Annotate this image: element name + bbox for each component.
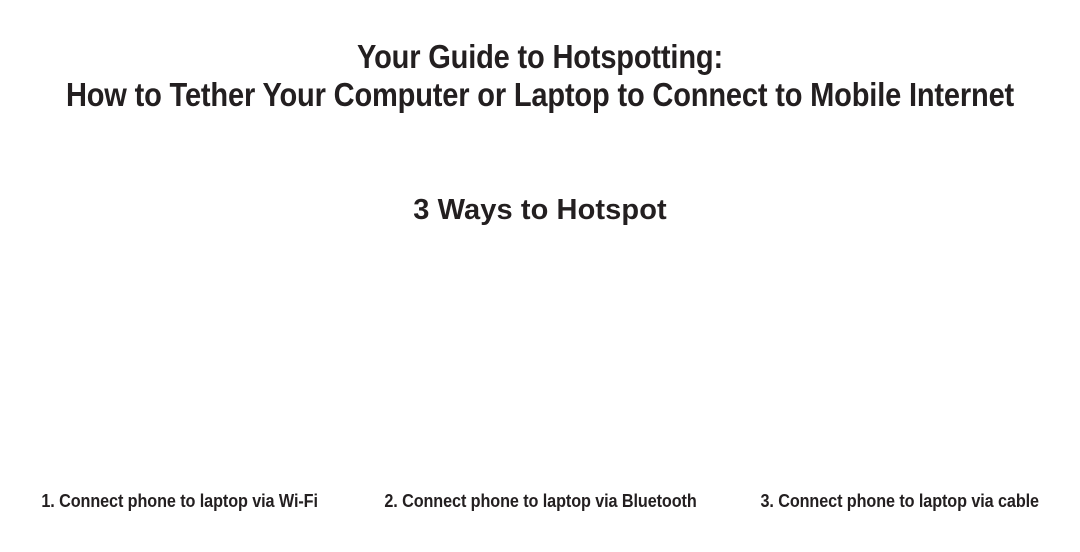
page-title: Your Guide to Hotspotting: How to Tether… (0, 0, 1080, 114)
step-caption-2: 2. Connect phone to laptop via Bluetooth (384, 490, 696, 512)
section-subtitle: 3 Ways to Hotspot (413, 193, 667, 227)
title-line-1: Your Guide to Hotspotting: (65, 38, 1015, 76)
step-caption-1: 1. Connect phone to laptop via Wi-Fi (42, 490, 319, 512)
illustration-placeholder-3 (720, 233, 1080, 490)
step-item-3: 3. Connect phone to laptop via cable (720, 490, 1080, 512)
step-caption-3: 3. Connect phone to laptop via cable (761, 490, 1040, 512)
step-item-2: 2. Connect phone to laptop via Bluetooth (360, 490, 720, 512)
subtitle-container: 3 Ways to Hotspot (0, 193, 1080, 227)
step-item-1: 1. Connect phone to laptop via Wi-Fi (0, 490, 360, 512)
illustration-placeholder-1 (0, 233, 360, 490)
caption-row: 1. Connect phone to laptop via Wi-Fi 2. … (0, 490, 1080, 512)
title-line-2: How to Tether Your Computer or Laptop to… (65, 76, 1015, 114)
infographic-poster: Your Guide to Hotspotting: How to Tether… (0, 0, 1080, 552)
illustration-row (0, 233, 1080, 490)
illustration-placeholder-2 (360, 233, 720, 490)
